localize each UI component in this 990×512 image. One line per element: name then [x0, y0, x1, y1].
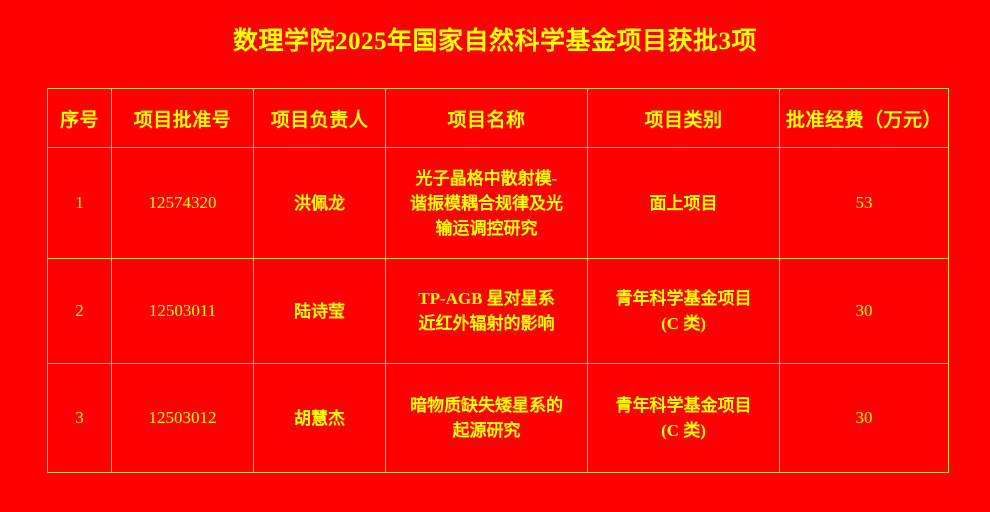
project-name-line: 输运调控研究 — [390, 216, 583, 241]
cell-code: 12503011 — [112, 259, 254, 364]
document-page: 数理学院2025年国家自然科学基金项目获批3项 序号 项目批准号 项目负责人 项… — [0, 0, 990, 512]
cell-category: 青年科学基金项目 (C 类) — [588, 259, 780, 364]
table-header: 序号 项目批准号 项目负责人 项目名称 项目类别 批准经费（万元） — [48, 89, 949, 148]
project-name-line: 谐振模耦合规律及光 — [390, 191, 583, 216]
grant-approval-table: 序号 项目批准号 项目负责人 项目名称 项目类别 批准经费（万元） 1 1257… — [47, 88, 949, 473]
cell-leader: 洪佩龙 — [254, 148, 386, 259]
cell-leader: 陆诗莹 — [254, 259, 386, 364]
cell-seq: 1 — [48, 148, 112, 259]
project-name-line: 暗物质缺失矮星系的 — [390, 393, 583, 418]
column-header-funding: 批准经费（万元） — [780, 89, 949, 148]
cell-seq: 3 — [48, 364, 112, 473]
cell-code: 12503012 — [112, 364, 254, 473]
column-header-name: 项目名称 — [386, 89, 588, 148]
cell-funding: 53 — [780, 148, 949, 259]
cell-leader: 胡慧杰 — [254, 364, 386, 473]
project-name-line: TP-AGB 星对星系 — [390, 286, 583, 311]
table-header-row: 序号 项目批准号 项目负责人 项目名称 项目类别 批准经费（万元） — [48, 89, 949, 148]
cell-seq: 2 — [48, 259, 112, 364]
project-name-line: 近红外辐射的影响 — [390, 311, 583, 336]
cell-code: 12574320 — [112, 148, 254, 259]
cell-category: 面上项目 — [588, 148, 780, 259]
category-line: (C 类) — [592, 311, 775, 336]
table-body: 1 12574320 洪佩龙 光子晶格中散射模- 谐振模耦合规律及光 输运调控研… — [48, 148, 949, 473]
project-name-line: 起源研究 — [390, 418, 583, 443]
cell-project-name: TP-AGB 星对星系 近红外辐射的影响 — [386, 259, 588, 364]
page-title: 数理学院2025年国家自然科学基金项目获批3项 — [0, 26, 990, 58]
column-header-category: 项目类别 — [588, 89, 780, 148]
table-row: 2 12503011 陆诗莹 TP-AGB 星对星系 近红外辐射的影响 青年科学… — [48, 259, 949, 364]
cell-funding: 30 — [780, 259, 949, 364]
cell-category: 青年科学基金项目 (C 类) — [588, 364, 780, 473]
table-row: 1 12574320 洪佩龙 光子晶格中散射模- 谐振模耦合规律及光 输运调控研… — [48, 148, 949, 259]
column-header-code: 项目批准号 — [112, 89, 254, 148]
category-line: 青年科学基金项目 — [592, 286, 775, 311]
category-line: 青年科学基金项目 — [592, 393, 775, 418]
column-header-leader: 项目负责人 — [254, 89, 386, 148]
cell-funding: 30 — [780, 364, 949, 473]
category-line: 面上项目 — [592, 191, 775, 216]
column-header-seq: 序号 — [48, 89, 112, 148]
table-row: 3 12503012 胡慧杰 暗物质缺失矮星系的 起源研究 青年科学基金项目 (… — [48, 364, 949, 473]
cell-project-name: 光子晶格中散射模- 谐振模耦合规律及光 输运调控研究 — [386, 148, 588, 259]
category-line: (C 类) — [592, 418, 775, 443]
project-name-line: 光子晶格中散射模- — [390, 166, 583, 191]
cell-project-name: 暗物质缺失矮星系的 起源研究 — [386, 364, 588, 473]
